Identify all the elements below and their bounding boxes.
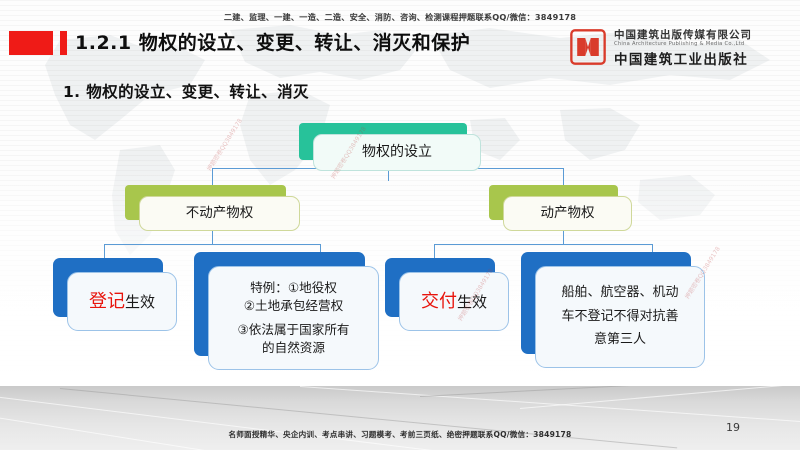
node-branch-1-face: 不动产物权 [139,196,300,231]
node-root-face: 物权的设立 [313,134,481,171]
node-leaf-4-face: 船舶、航空器、机动 车不登记不得对抗善 意第三人 [535,266,705,368]
node-leaf-1-emph: 登记 [89,291,125,312]
node-leaf-2-face: 特例：①地役权 ②土地承包经营权 ③依法属于国家所有 的自然资源 [208,266,379,370]
footer-text: 名师面授精华、央企内训、考点串讲、习题模考、考前三页纸、绝密押题联系QQ/微信：… [0,429,800,440]
node-leaf-1-label: 登记生效 [89,289,155,315]
slide-canvas: 二建、监理、一建、一造、二造、安全、消防、咨询、检测课程押题联系QQ/微信：38… [0,0,800,450]
node-leaf-vehicles[interactable]: 船舶、航空器、机动 车不登记不得对抗善 意第三人 [521,252,705,368]
node-leaf-exceptions[interactable]: 特例：①地役权 ②土地承包经营权 ③依法属于国家所有 的自然资源 [194,252,379,370]
node-leaf-3-label: 交付生效 [421,289,487,315]
node-leaf-4-line-3: 意第三人 [594,331,646,349]
node-leaf-4-line-1: 船舶、航空器、机动 [561,284,678,302]
node-leaf-3-rest: 生效 [457,293,487,311]
node-leaf-2-line-3: ③依法属于国家所有 [237,321,349,339]
node-leaf-delivery[interactable]: 交付生效 [385,258,509,331]
node-leaf-2-line-4: 的自然资源 [262,339,325,357]
watermark-stamp-1: 押题密卷QQ3849178 [204,117,244,173]
node-leaf-2-line-2: ②土地承包经营权 [244,297,343,315]
node-branch-real-estate[interactable]: 不动产物权 [125,185,300,231]
node-branch-2-face: 动产物权 [503,196,632,231]
node-leaf-2-line-1: 特例：①地役权 [250,279,337,297]
node-leaf-4-line-2: 车不登记不得对抗善 [561,308,678,326]
connector-to-leaf-3 [434,244,435,258]
node-leaf-registration[interactable]: 登记生效 [53,258,177,331]
node-root-label: 物权的设立 [362,143,432,163]
mindmap-diagram: 物权的设立 不动产物权 动产物权 登记生效 [0,0,800,400]
node-leaf-3-emph: 交付 [421,291,457,312]
connector-leaf-bus-1 [104,244,320,245]
node-leaf-3-face: 交付生效 [399,272,509,331]
node-leaf-1-face: 登记生效 [67,272,177,331]
page-number: 19 [726,421,740,434]
node-leaf-1-rest: 生效 [125,293,155,311]
node-root[interactable]: 物权的设立 [299,123,481,171]
node-branch-2-label: 动产物权 [541,204,595,223]
connector-leaf-bus-2 [434,244,652,245]
connector-to-leaf-1 [104,244,105,258]
node-branch-movable[interactable]: 动产物权 [489,185,632,231]
node-branch-1-label: 不动产物权 [186,204,254,223]
